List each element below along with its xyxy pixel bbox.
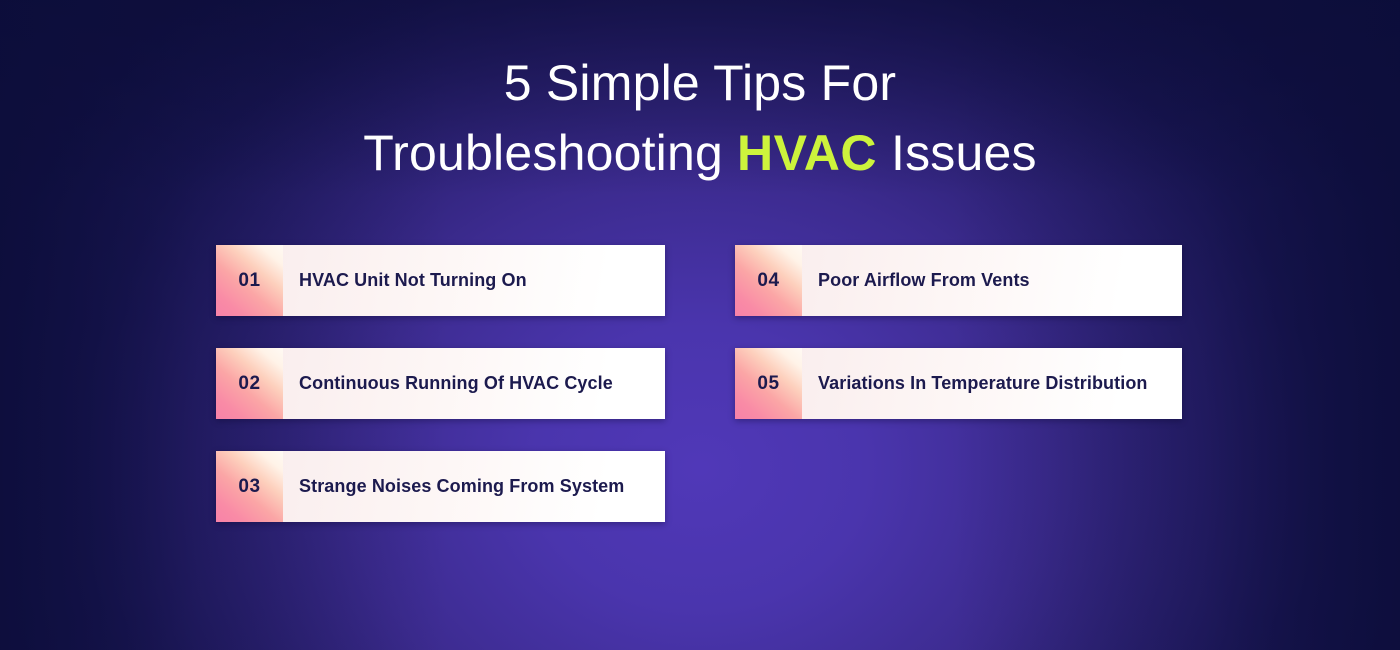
title-line-1: 5 Simple Tips For — [0, 48, 1400, 118]
card-badge: 01 — [216, 245, 283, 316]
card-item[interactable]: 03 Strange Noises Coming From System — [216, 451, 665, 522]
card-badge: 03 — [216, 451, 283, 522]
card-item[interactable]: 02 Continuous Running Of HVAC Cycle — [216, 348, 665, 419]
card-label: HVAC Unit Not Turning On — [283, 245, 527, 316]
card-item[interactable]: 05 Variations In Temperature Distributio… — [735, 348, 1182, 419]
cards-left-column: 01 HVAC Unit Not Turning On 02 Continuou… — [216, 245, 665, 554]
title-accent-hvac: HVAC — [737, 125, 877, 181]
card-number: 03 — [238, 476, 260, 498]
card-number: 05 — [757, 373, 779, 395]
card-label: Variations In Temperature Distribution — [802, 348, 1148, 419]
card-label: Poor Airflow From Vents — [802, 245, 1030, 316]
card-number: 04 — [757, 270, 779, 292]
card-label: Strange Noises Coming From System — [283, 451, 624, 522]
card-number: 01 — [238, 270, 260, 292]
title-block: 5 Simple Tips For TroubleshootingHVACIss… — [0, 48, 1400, 188]
title-line-2-prefix: Troubleshooting — [363, 125, 723, 181]
card-badge: 02 — [216, 348, 283, 419]
title-line-1-text: 5 Simple Tips For — [504, 55, 896, 111]
title-line-2: TroubleshootingHVACIssues — [0, 118, 1400, 188]
card-item[interactable]: 01 HVAC Unit Not Turning On — [216, 245, 665, 316]
card-badge: 04 — [735, 245, 802, 316]
slide-canvas: 5 Simple Tips For TroubleshootingHVACIss… — [0, 0, 1400, 650]
card-badge: 05 — [735, 348, 802, 419]
title-line-2-suffix: Issues — [891, 125, 1037, 181]
card-label: Continuous Running Of HVAC Cycle — [283, 348, 613, 419]
cards-right-column: 04 Poor Airflow From Vents 05 Variations… — [735, 245, 1182, 451]
card-item[interactable]: 04 Poor Airflow From Vents — [735, 245, 1182, 316]
card-number: 02 — [238, 373, 260, 395]
